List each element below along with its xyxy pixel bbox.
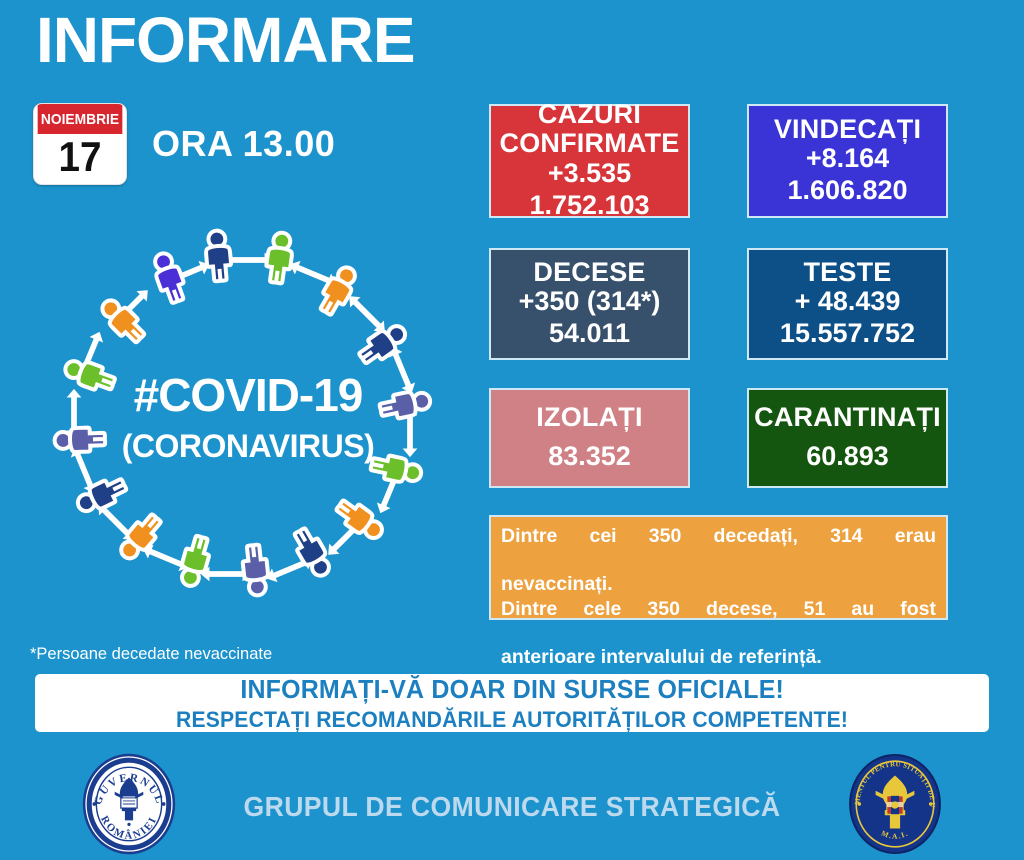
page-title: INFORMARE xyxy=(36,8,415,72)
banner-line-1: INFORMAȚI-VĂ DOAR DIN SURSE OFICIALE! xyxy=(240,674,784,705)
stat-box-vindecati: VINDECAȚI +8.164 1.606.820 xyxy=(747,104,948,218)
official-sources-banner: INFORMAȚI-VĂ DOAR DIN SURSE OFICIALE! RE… xyxy=(33,672,991,734)
dsu-mai-seal-icon: DEPARTAMENTUL PENTRU SITUAȚII DE URGENȚĂ… xyxy=(844,753,946,855)
calendar-month-label: NOIEMBRIE xyxy=(38,104,123,134)
stat-delta: + 48.439 xyxy=(795,286,901,318)
covid-hashtag: #COVID-19 xyxy=(28,368,468,422)
stat-total: 1.752.103 xyxy=(529,190,649,222)
stat-label-line1: CAZURI xyxy=(538,100,641,128)
stat-total: 15.557.752 xyxy=(780,318,915,350)
stat-box-decese: DECESE +350 (314*) 54.011 xyxy=(489,248,690,360)
stat-box-cazuri-confirmate: CAZURI CONFIRMATE +3.535 1.752.103 xyxy=(489,104,690,218)
stat-label: IZOLAȚI xyxy=(536,403,642,431)
stat-total: 54.011 xyxy=(549,318,630,350)
people-circle-svg xyxy=(28,222,468,622)
banner-line-2: RESPECTAȚI RECOMANDĂRILE AUTORITĂȚILOR C… xyxy=(176,707,848,733)
stat-box-carantinati: CARANTINAȚI 60.893 xyxy=(747,388,948,488)
stat-label: DECESE xyxy=(533,258,645,286)
calendar-icon: NOIEMBRIE 17 xyxy=(33,103,127,185)
note-line-2: nevaccinați. xyxy=(501,572,936,596)
stat-delta: +350 (314*) xyxy=(519,286,661,318)
vaccination-note-box: Dintre cei 350 decedați, 314 erau nevacc… xyxy=(489,515,948,620)
stat-total: 83.352 xyxy=(548,441,631,473)
stat-label-line2: CONFIRMATE xyxy=(500,129,680,157)
stat-total: 60.893 xyxy=(806,441,889,473)
stat-box-teste: TESTE + 48.439 15.557.752 xyxy=(747,248,948,360)
date-time-bar: NOIEMBRIE 17 ORA 13.00 xyxy=(33,103,335,185)
footnote-text: *Persoane decedate nevaccinate xyxy=(30,645,272,664)
note-line-1: Dintre cei 350 decedați, 314 erau xyxy=(501,524,936,572)
stat-box-izolati: IZOLAȚI 83.352 xyxy=(489,388,690,488)
time-label: ORA 13.00 xyxy=(152,123,335,165)
stat-label: VINDECAȚI xyxy=(774,115,921,143)
note-line-4: anterioare intervalului de referință. xyxy=(501,645,936,669)
stat-delta: +8.164 xyxy=(806,143,889,175)
stat-delta: +3.535 xyxy=(548,158,631,190)
infographic-root: INFORMARE NOIEMBRIE 17 ORA 13.00 xyxy=(0,0,1024,860)
calendar-day-label: 17 xyxy=(38,132,123,182)
footer: GUVERNUL ROMÂNIEI GRUPUL DE COMUNICARE S… xyxy=(0,745,1024,860)
stat-label: TESTE xyxy=(803,258,891,286)
stat-label: CARANTINAȚI xyxy=(754,403,941,431)
covid-circle-illustration: #COVID-19 (CORONAVIRUS) xyxy=(28,222,468,622)
covid-subtitle: (CORONAVIRUS) xyxy=(28,428,468,465)
stat-total: 1.606.820 xyxy=(787,175,907,207)
note-line-3: Dintre cele 350 decese, 51 au fost xyxy=(501,597,936,645)
